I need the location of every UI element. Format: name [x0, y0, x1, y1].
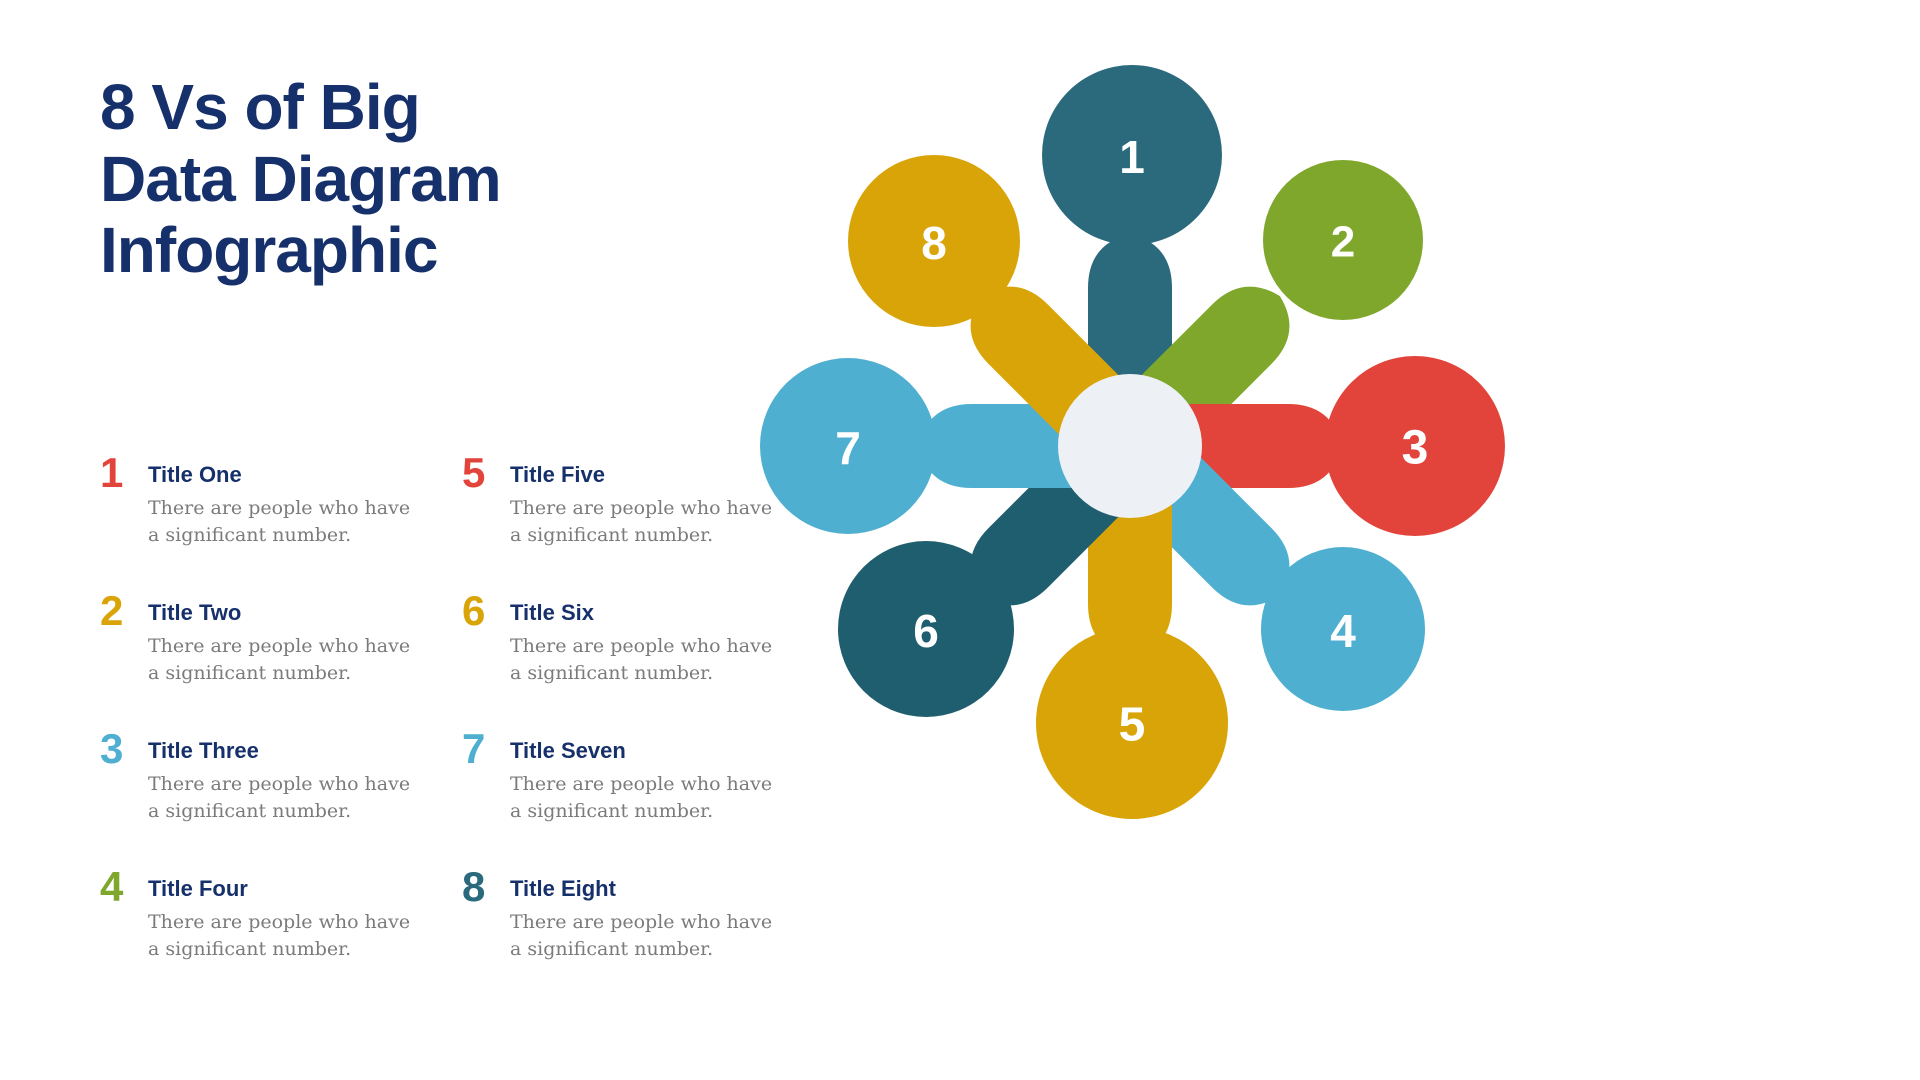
- page-title: 8 Vs of Big Data Diagram Infographic: [100, 72, 740, 287]
- radial-flower-diagram: 12345678: [740, 0, 1920, 1080]
- legend-list: 1Title OneThere are people who have a si…: [100, 462, 840, 984]
- legend-number: 4: [100, 866, 138, 908]
- node-7[interactable]: 7: [760, 358, 936, 534]
- legend-number: 8: [462, 866, 500, 908]
- node-label-2: 2: [1331, 218, 1355, 267]
- node-label-1: 1: [1119, 131, 1145, 183]
- legend-number: 1: [100, 452, 138, 494]
- node-1[interactable]: 1: [1042, 65, 1222, 245]
- left-panel: 8 Vs of Big Data Diagram Infographic 1Ti…: [0, 0, 860, 1080]
- legend-title: Title Four: [148, 876, 438, 902]
- node-label-6: 6: [913, 605, 939, 657]
- node-label-4: 4: [1330, 605, 1356, 657]
- legend-description: There are people who have a significant …: [148, 909, 418, 961]
- page-title-line-1: 8 Vs of Big: [100, 72, 740, 144]
- legend-title: Title Two: [148, 600, 438, 626]
- legend-item-3[interactable]: 3Title ThreeThere are people who have a …: [100, 738, 438, 846]
- node-label-7: 7: [835, 422, 861, 474]
- diagram-canvas: 12345678: [740, 0, 1920, 1080]
- node-5[interactable]: 5: [1036, 627, 1228, 819]
- legend-number: 5: [462, 452, 500, 494]
- legend-number: 2: [100, 590, 138, 632]
- page-title-line-3: Infographic: [100, 215, 740, 287]
- legend-description: There are people who have a significant …: [148, 633, 418, 685]
- node-4[interactable]: 4: [1261, 547, 1425, 711]
- node-label-3: 3: [1402, 422, 1429, 475]
- node-2[interactable]: 2: [1263, 160, 1423, 320]
- node-3[interactable]: 3: [1325, 356, 1505, 536]
- legend-title: Title One: [148, 462, 438, 488]
- node-6[interactable]: 6: [838, 541, 1014, 717]
- legend-title: Title Three: [148, 738, 438, 764]
- node-label-5: 5: [1119, 699, 1146, 752]
- legend-item-2[interactable]: 2Title TwoThere are people who have a si…: [100, 600, 438, 708]
- page-title-line-2: Data Diagram: [100, 144, 740, 216]
- center-hub-circle[interactable]: [1058, 374, 1202, 518]
- legend-item-1[interactable]: 1Title OneThere are people who have a si…: [100, 462, 438, 570]
- legend-number: 3: [100, 728, 138, 770]
- legend-description: There are people who have a significant …: [148, 771, 418, 823]
- node-8[interactable]: 8: [848, 155, 1020, 327]
- legend-number: 6: [462, 590, 500, 632]
- legend-number: 7: [462, 728, 500, 770]
- legend-description: There are people who have a significant …: [148, 495, 418, 547]
- legend-item-4[interactable]: 4Title FourThere are people who have a s…: [100, 876, 438, 984]
- node-label-8: 8: [921, 217, 947, 269]
